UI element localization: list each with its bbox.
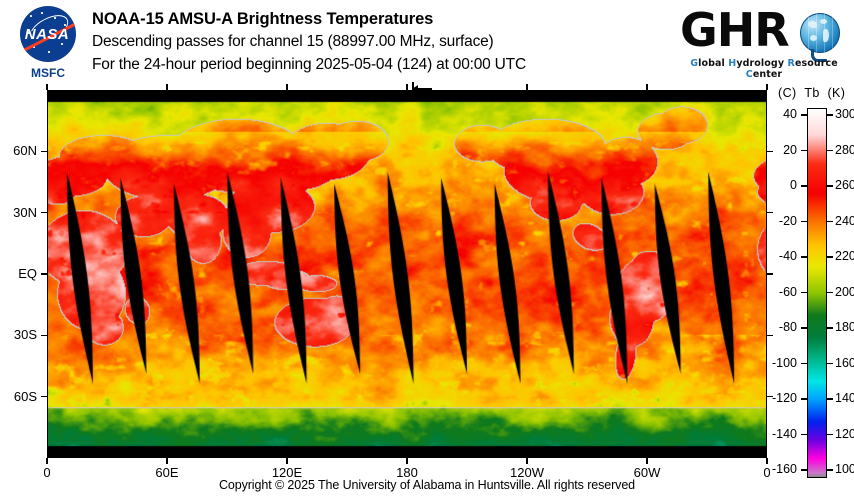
lon-tick-top [286,84,288,90]
colorbar-tick-right [827,398,833,400]
colorbar-variable-label: Tb [804,86,819,100]
colorbar-label-celsius: -80 [751,320,797,334]
lat-label: 60S [0,389,37,404]
colorbar-label-kelvin: 100 [835,462,854,476]
lat-label: EQ [0,266,37,281]
colorbar-label-kelvin: 180 [835,320,854,334]
colorbar-tick-left [801,434,807,436]
colorbar-tick-right [827,221,833,223]
colorbar-label-celsius: -40 [751,249,797,263]
colorbar-tick-left [801,327,807,329]
page-title: NOAA-15 AMSU-A Brightness Temperatures [92,8,652,30]
lat-tick [41,396,47,398]
lat-tick [41,335,47,337]
colorbar-tick-left [801,114,807,116]
lat-tick [41,212,47,214]
colorbar-tick-left [801,221,807,223]
lat-tick [41,151,47,153]
colorbar-label-celsius: 20 [751,143,797,157]
colorbar-label-kelvin: 200 [835,285,854,299]
colorbar-tick-left [801,150,807,152]
copyright-notice: Copyright © 2025 The University of Alaba… [0,478,854,492]
colorbar-tick-left [801,292,807,294]
colorbar-label-celsius: 0 [751,178,797,192]
colorbar-label-celsius: -160 [751,462,797,476]
colorbar-label-celsius: -100 [751,356,797,370]
lon-tick-top [46,84,48,90]
lon-tick [166,458,168,464]
colorbar-tick-right [827,469,833,471]
colorbar-tick-right [827,114,833,116]
colorbar-label-celsius: 40 [751,107,797,121]
colorbar-label-kelvin: 160 [835,356,854,370]
colorbar-label-kelvin: 120 [835,427,854,441]
colorbar-label-kelvin: 220 [835,249,854,263]
lon-tick [286,458,288,464]
lon-tick-top [766,84,768,90]
lat-label: 30S [0,327,37,342]
colorbar-label-kelvin: 260 [835,178,854,192]
colorbar-label-kelvin: 140 [835,391,854,405]
title-block: NOAA-15 AMSU-A Brightness Temperatures D… [92,8,652,76]
colorbar-label-celsius: -20 [751,214,797,228]
globe-icon [800,13,840,53]
channel-subtitle: Descending passes for channel 15 (88997.… [92,30,652,53]
lon-tick-top [526,84,528,90]
colorbar-tick-right [827,292,833,294]
colorbar-label-celsius: -60 [751,285,797,299]
lat-tick-right [767,335,773,337]
nasa-wordmark: NASA [22,26,72,43]
colorbar-tick-right [827,150,833,152]
lon-tick [46,458,48,464]
colorbar-tick-left [801,185,807,187]
colorbar-tick-right [827,327,833,329]
colorbar-tick-left [801,363,807,365]
colorbar-tick-right [827,185,833,187]
lon-tick-top [166,84,168,90]
colorbar-tick-left [801,469,807,471]
colorbar-unit-celsius: (C) [778,86,797,100]
map-canvas[interactable] [48,91,766,457]
ghrc-logo: GHR Global Hydrology Resource Center [680,4,844,78]
colorbar-tick-right [827,256,833,258]
colorbar [807,108,827,478]
colorbar-tick-left [801,256,807,258]
colorbar-header: (C) Tb (K) [778,86,854,100]
colorbar-label-kelvin: 300 [835,107,854,121]
colorbar-label-celsius: -120 [751,391,797,405]
brightness-temperature-map[interactable] [47,90,767,458]
msfc-label: MSFC [14,66,82,80]
lon-tick [646,458,648,464]
lon-tick-top [646,84,648,90]
ghrc-subtitle: Global Hydrology Resource Center [684,58,844,80]
colorbar-unit-kelvin: (K) [827,86,845,100]
period-subtitle: For the 24-hour period beginning 2025-05… [92,53,652,76]
colorbar-label-celsius: -140 [751,427,797,441]
colorbar-tick-left [801,398,807,400]
lat-label: 60N [0,143,37,158]
lat-label: 30N [0,205,37,220]
colorbar-label-kelvin: 240 [835,214,854,228]
lon-tick [406,458,408,464]
lat-tick-right [767,273,773,275]
colorbar-tick-right [827,434,833,436]
nasa-logo: NASA MSFC [14,6,82,84]
lon-tick-top [406,84,408,90]
colorbar-tick-right [827,363,833,365]
lon-tick [526,458,528,464]
lat-tick [41,273,47,275]
colorbar-label-kelvin: 280 [835,143,854,157]
